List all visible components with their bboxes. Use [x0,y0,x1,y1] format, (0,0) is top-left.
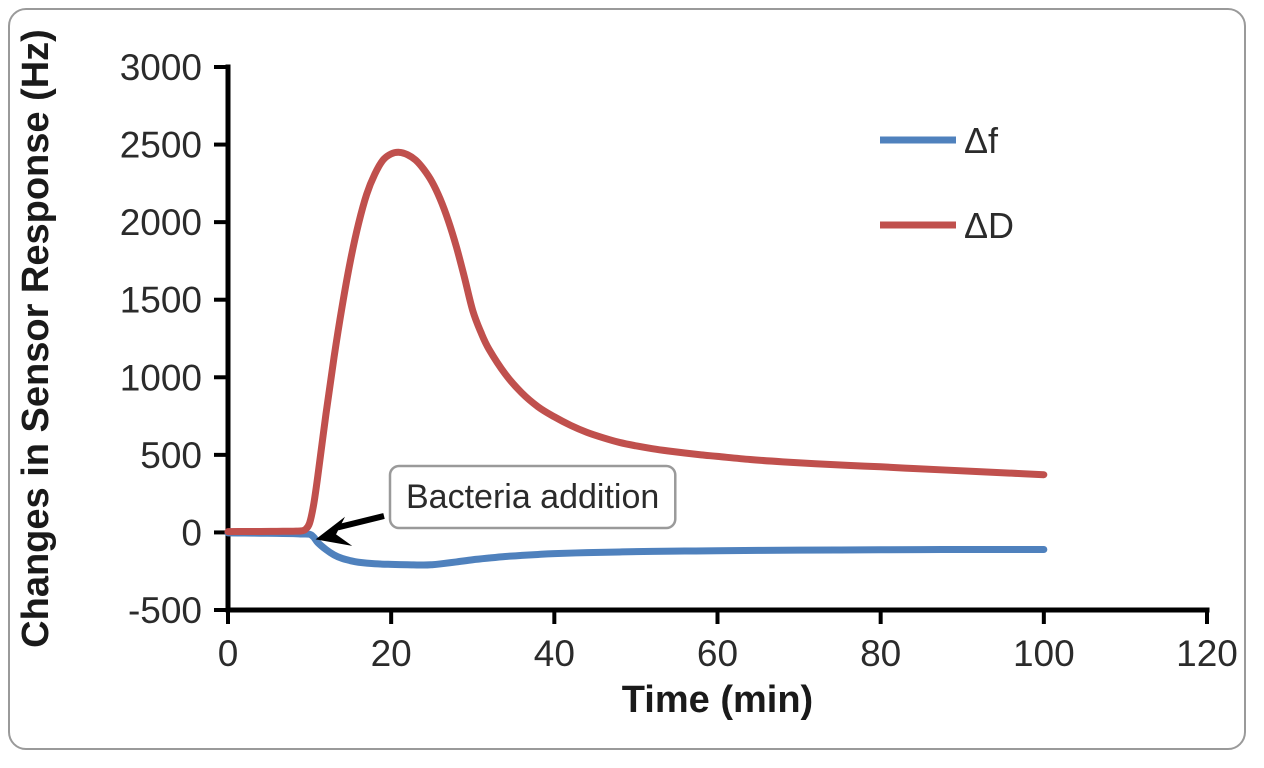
y-axis-tick-labels: 300025002000150010005000-500 [120,47,202,631]
x-axis: 020406080100120 [218,610,1238,674]
x-axis-tick-label: 60 [697,633,738,674]
y-axis-tick-label: 500 [140,435,202,476]
y-axis-tick-label: 3000 [120,47,202,88]
y-axis-tick-label: 0 [181,512,202,553]
y-axis-tick-label: -500 [128,590,202,631]
x-axis-tick-label: 120 [1176,633,1238,674]
legend-item-label: Δf [964,120,999,161]
legend-item-label: ΔD [964,205,1014,246]
x-axis-tick-label: 0 [218,633,239,674]
y-axis: 300025002000150010005000-500 [120,47,228,631]
annotation-bacteria-addition: Bacteria addition [316,466,676,546]
chart-plot-area: 300025002000150010005000-500 02040608010… [0,0,1264,768]
chart-svg: 300025002000150010005000-500 02040608010… [0,0,1264,768]
y-axis-title: Changes in Sensor Response (Hz) [15,29,57,648]
x-axis-title: Time (min) [622,679,813,721]
x-axis-tick-label: 20 [371,633,412,674]
y-axis-tick-label: 2000 [120,202,202,243]
x-axis-tick-label: 80 [860,633,901,674]
x-axis-tick-labels: 020406080100120 [218,633,1238,674]
data-series-line [228,533,1044,565]
x-axis-tick-label: 40 [534,633,575,674]
x-axis-tick-label: 100 [1013,633,1075,674]
y-axis-tick-label: 1500 [120,280,202,321]
y-axis-tick-label: 2500 [120,125,202,166]
chart-legend: ΔfΔD [880,120,1014,246]
y-axis-tick-label: 1000 [120,357,202,398]
annotation-callout-label: Bacteria addition [406,478,659,516]
annotation-arrow-line [338,516,384,527]
